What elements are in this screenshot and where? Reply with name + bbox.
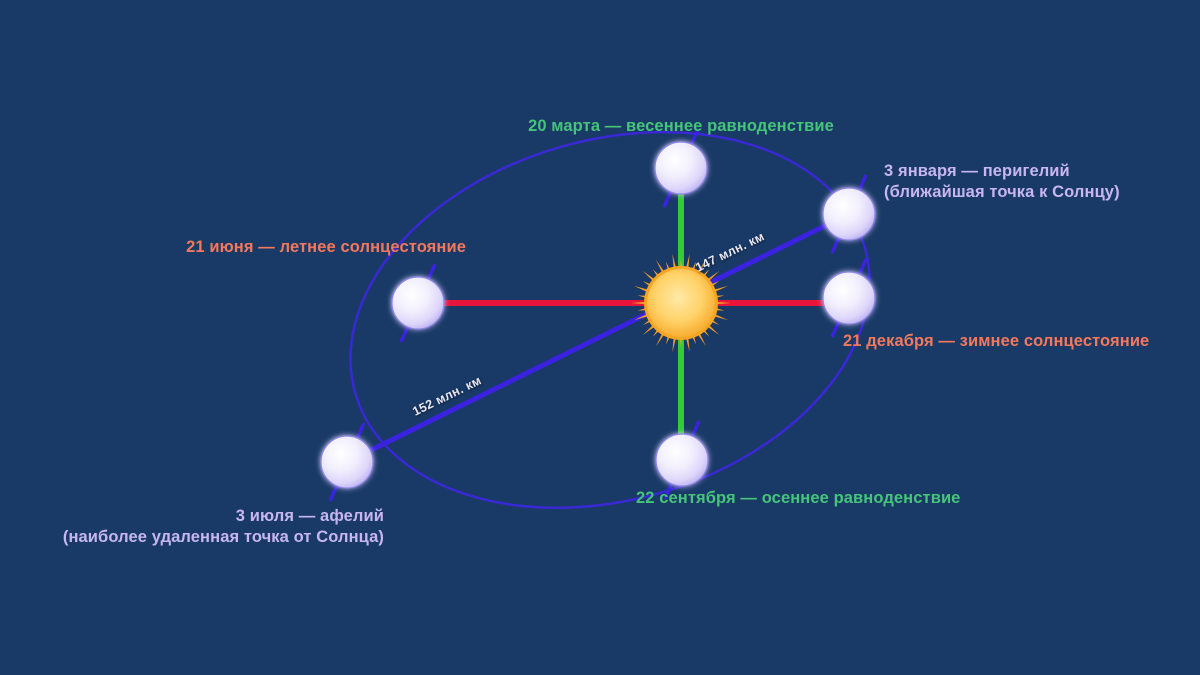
label-line: 21 декабря — зимнее солнцестояние	[843, 331, 1149, 352]
label-line: 3 июля — афелий	[63, 506, 384, 527]
planet-winter-solstice[interactable]	[823, 260, 875, 335]
sun	[631, 254, 731, 352]
planet-autumnal-equinox[interactable]	[656, 422, 708, 497]
label-autumnal-equinox: 22 сентября — осеннее равноденствие	[636, 488, 960, 509]
planet-vernal-equinox[interactable]	[655, 130, 707, 205]
label-line: (ближайшая точка к Солнцу)	[884, 182, 1120, 203]
planet-body	[392, 277, 444, 329]
label-line: 20 марта — весеннее равноденствие	[528, 116, 834, 137]
planet-body	[321, 436, 373, 488]
label-line: (наиболее удаленная точка от Солнца)	[63, 527, 384, 548]
planet-group	[321, 130, 875, 499]
label-perihelion: 3 января — перигелий(ближайшая точка к С…	[884, 161, 1120, 203]
planet-body	[655, 142, 707, 194]
planet-body	[823, 272, 875, 324]
label-line: 3 января — перигелий	[884, 161, 1120, 182]
sun-core	[647, 269, 715, 337]
planet-body	[656, 434, 708, 486]
planet-perihelion[interactable]	[823, 176, 875, 251]
planet-summer-solstice[interactable]	[392, 265, 444, 340]
planet-body	[823, 188, 875, 240]
diagram-canvas: 20 марта — весеннее равноденствие3 январ…	[0, 0, 1200, 675]
label-line: 22 сентября — осеннее равноденствие	[636, 488, 960, 509]
label-summer-solstice: 21 июня — летнее солнцестояние	[186, 237, 466, 258]
label-winter-solstice: 21 декабря — зимнее солнцестояние	[843, 331, 1149, 352]
label-vernal-equinox: 20 марта — весеннее равноденствие	[528, 116, 834, 137]
planet-aphelion[interactable]	[321, 424, 373, 499]
label-aphelion: 3 июля — афелий(наиболее удаленная точка…	[63, 506, 384, 548]
label-line: 21 июня — летнее солнцестояние	[186, 237, 466, 258]
